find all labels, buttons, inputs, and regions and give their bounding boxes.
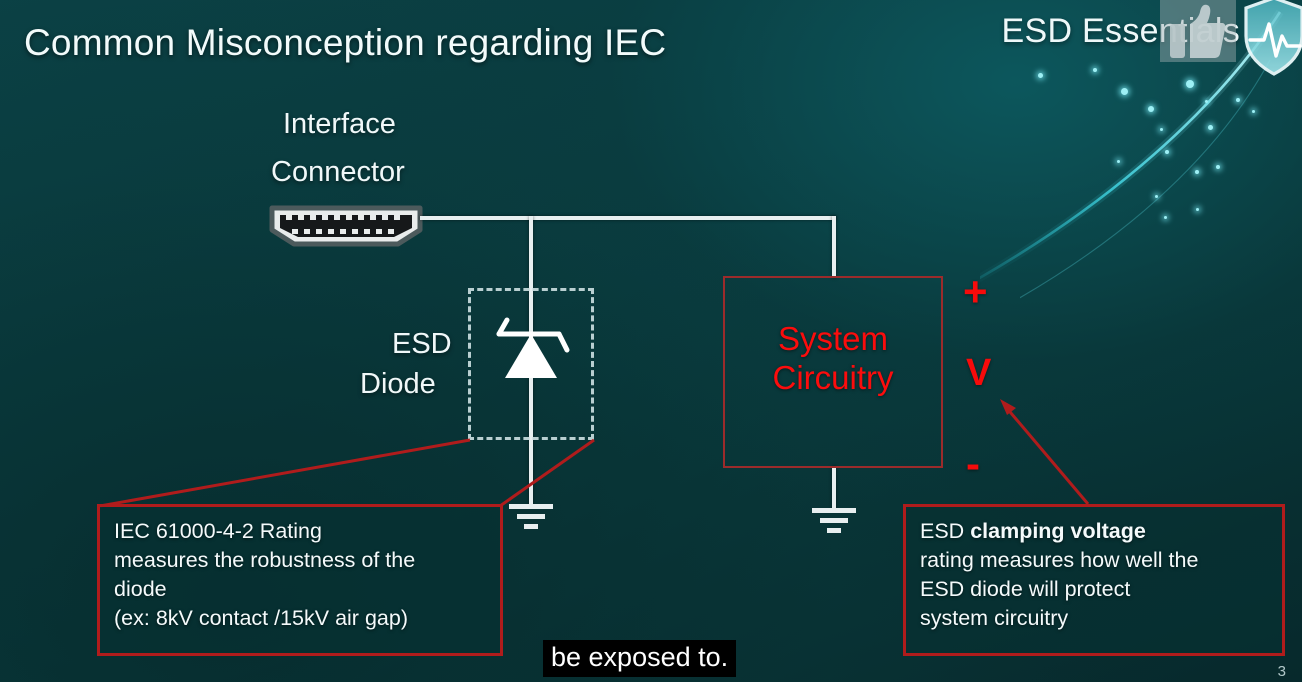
callout-left-line4: (ex: 8kV contact /15kV air gap) xyxy=(114,604,486,633)
callout-right-line1: ESD clamping voltage xyxy=(920,517,1268,546)
particle-dot xyxy=(1164,216,1167,219)
callout-right-prefix: ESD xyxy=(920,519,970,543)
particle-dot xyxy=(1186,80,1194,88)
particle-dot xyxy=(1117,160,1120,163)
wire-branch-to-system xyxy=(832,216,836,278)
particle-dot xyxy=(1093,68,1097,72)
callout-left-line2: measures the robustness of the xyxy=(114,546,486,575)
callout-left-line1: IEC 61000-4-2 Rating xyxy=(114,517,486,546)
callout-right: ESD clamping voltage rating measures how… xyxy=(903,504,1285,656)
thumbs-up-overlay-badge[interactable] xyxy=(1160,0,1236,62)
ground-icon xyxy=(803,504,865,538)
zener-diode-icon xyxy=(487,312,579,402)
caption-subtitle: be exposed to. xyxy=(543,640,736,677)
particle-dot xyxy=(1205,100,1208,103)
callout-left: IEC 61000-4-2 Rating measures the robust… xyxy=(97,504,503,656)
polarity-minus-label: - xyxy=(966,440,980,488)
particle-dot xyxy=(1252,110,1255,113)
system-circuitry-label-line2: Circuitry xyxy=(723,359,943,398)
page-number: 3 xyxy=(1278,663,1286,680)
interface-connector-label-line1: Interface xyxy=(283,108,396,141)
particle-dot xyxy=(1196,208,1199,211)
polarity-plus-label: + xyxy=(963,268,988,316)
particle-dot xyxy=(1148,106,1154,112)
particle-dot xyxy=(1155,195,1158,198)
particle-dot xyxy=(1165,150,1169,154)
callout-right-line3: ESD diode will protect xyxy=(920,575,1268,604)
system-circuitry-label-line1: System xyxy=(723,320,943,359)
polarity-voltage-label: V xyxy=(966,352,991,395)
slide-canvas: Common Misconception regarding IEC ESD E… xyxy=(0,0,1302,682)
wire-connector-to-right xyxy=(420,216,836,220)
callout-right-line2: rating measures how well the xyxy=(920,546,1268,575)
particle-dot xyxy=(1208,125,1213,130)
particle-dot xyxy=(1195,170,1199,174)
particle-dot xyxy=(1236,98,1240,102)
particle-dot xyxy=(1216,165,1220,169)
particle-dot xyxy=(1121,88,1128,95)
ground-icon xyxy=(500,500,562,534)
particle-dot xyxy=(1038,73,1043,78)
interface-connector-label-line2: Connector xyxy=(271,156,405,189)
esd-diode-label-line1: ESD xyxy=(392,328,452,361)
hdmi-connector-icon xyxy=(266,204,426,248)
thumbs-up-icon xyxy=(1170,4,1226,58)
system-circuitry-label: System Circuitry xyxy=(723,320,943,398)
callout-right-line4: system circuitry xyxy=(920,604,1268,633)
esd-diode-label-line2: Diode xyxy=(360,368,436,401)
callout-right-emphasis: clamping voltage xyxy=(970,519,1146,543)
page-title: Common Misconception regarding IEC xyxy=(24,22,666,64)
particle-dot xyxy=(1160,128,1163,131)
shield-pulse-logo-icon xyxy=(1242,0,1302,78)
callout-left-line3: diode xyxy=(114,575,486,604)
